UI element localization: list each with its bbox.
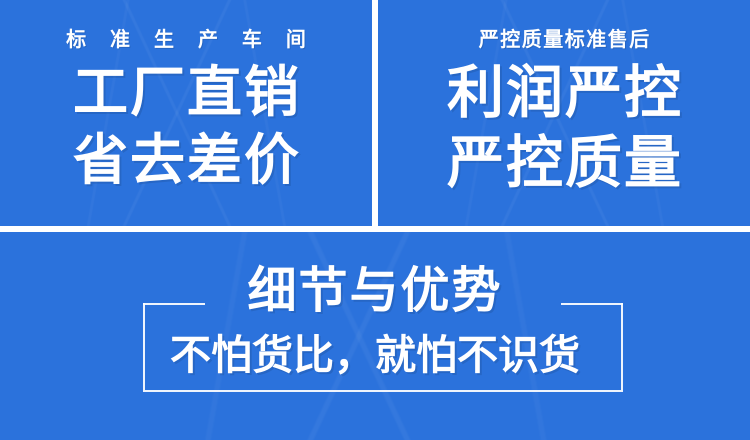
headline-factory-direct-line1: 工厂直销 <box>71 65 301 120</box>
promo-banner: 标 准 生 产 车 间 工厂直销 省去差价 严控质量标准售后 利润严控 严控质量… <box>0 0 750 440</box>
section-subtitle-compare-goods: 不怕货比，就怕不识货 <box>0 335 750 376</box>
headline-quality-control-line2: 严控质量 <box>445 135 683 192</box>
panel-quality-control-content: 严控质量标准售后 利润严控 严控质量 <box>378 0 750 226</box>
eyebrow-standard-workshop: 标 准 生 产 车 间 <box>58 29 315 49</box>
panel-quality-control: 严控质量标准售后 利润严控 严控质量 <box>378 0 750 226</box>
panel-factory-direct: 标 准 生 产 车 间 工厂直销 省去差价 <box>0 0 372 226</box>
section-title-details-advantages: 细节与优势 <box>0 266 750 315</box>
panel-details-advantages: 细节与优势 不怕货比，就怕不识货 <box>0 232 750 440</box>
headline-quality-control-line1: 利润严控 <box>445 65 683 122</box>
eyebrow-quality-aftersales: 严控质量标准售后 <box>477 29 651 49</box>
panel-factory-direct-content: 标 准 生 产 车 间 工厂直销 省去差价 <box>0 0 372 226</box>
headline-factory-direct-line2: 省去差价 <box>71 133 301 188</box>
